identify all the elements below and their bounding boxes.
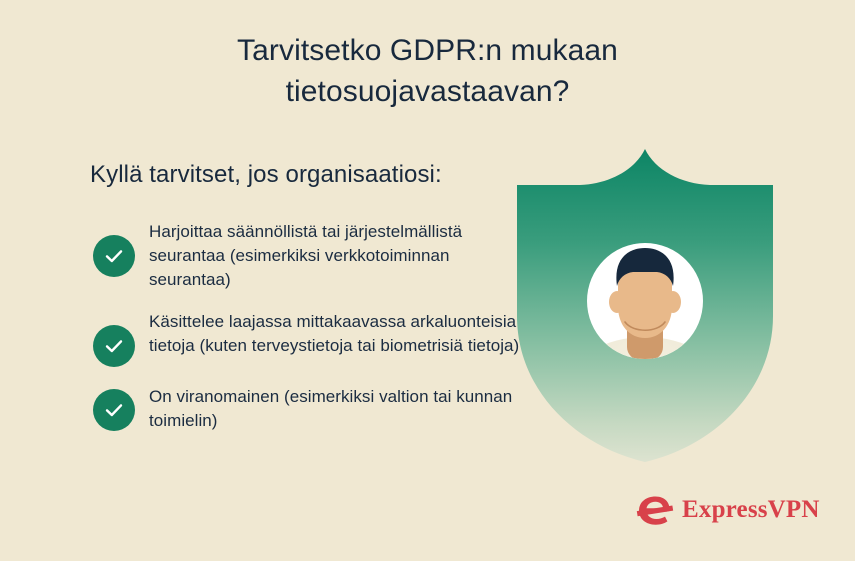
page-title-line-2: tietosuojavastaavan? xyxy=(0,71,855,112)
list-item-label: Harjoittaa säännöllistä tai järjestelmäl… xyxy=(149,218,533,292)
list-item: Harjoittaa säännöllistä tai järjestelmäl… xyxy=(93,218,533,292)
avatar-face xyxy=(618,266,672,338)
check-circle-icon xyxy=(93,235,135,277)
list-item: Käsittelee laajassa mittakaavassa arkalu… xyxy=(93,308,533,367)
expressvpn-wordmark: ExpressVPN xyxy=(682,497,820,524)
expressvpn-e-mark-icon xyxy=(634,490,674,530)
subheading: Kyllä tarvitset, jos organisaatiosi: xyxy=(90,160,442,190)
page-title-line-1: Tarvitsetko GDPR:n mukaan xyxy=(0,30,855,71)
expressvpn-logo: ExpressVPN xyxy=(634,490,820,530)
check-circle-icon xyxy=(93,389,135,431)
list-item-label: Käsittelee laajassa mittakaavassa arkalu… xyxy=(149,308,533,358)
check-circle-icon xyxy=(93,325,135,367)
checklist: Harjoittaa säännöllistä tai järjestelmäl… xyxy=(93,218,533,449)
page-title: Tarvitsetko GDPR:n mukaan tietosuojavast… xyxy=(0,30,855,112)
infographic-canvas: Tarvitsetko GDPR:n mukaan tietosuojavast… xyxy=(0,0,855,561)
list-item-label: On viranomainen (esimerkiksi valtion tai… xyxy=(149,383,533,433)
shield-with-person-avatar xyxy=(505,140,790,470)
list-item: On viranomainen (esimerkiksi valtion tai… xyxy=(93,383,533,433)
